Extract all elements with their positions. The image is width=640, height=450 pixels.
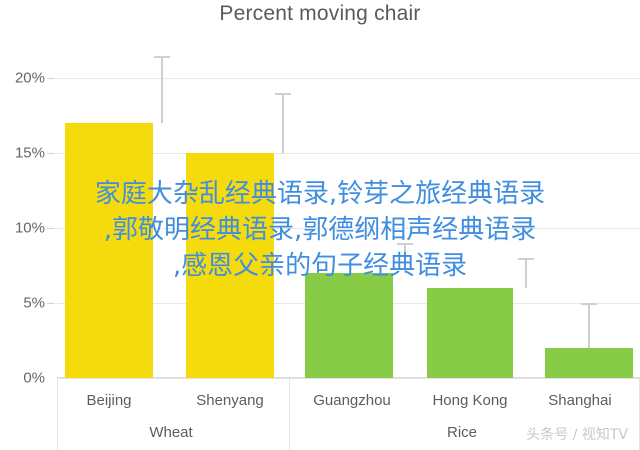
group-label-wheat: Wheat: [149, 424, 192, 441]
y-axis-label-0: 0%: [0, 370, 45, 387]
y-axis-label-10: 10%: [0, 220, 45, 237]
bar-guangzhou[interactable]: [305, 273, 393, 378]
bar-hong-kong[interactable]: [427, 288, 513, 378]
group-label-rice: Rice: [447, 424, 477, 441]
error-bar-cap-shenyang: [275, 93, 291, 95]
x-axis-label-guangzhou: Guangzhou: [313, 392, 391, 409]
x-axis-label-shenyang: Shenyang: [196, 392, 264, 409]
y-tick-mark-20: [47, 78, 55, 79]
y-tick-mark-15: [47, 153, 55, 154]
x-axis-label-shanghai: Shanghai: [548, 392, 611, 409]
y-axis-label-5: 5%: [0, 295, 45, 312]
error-bar-cap-hong-kong: [518, 258, 534, 260]
y-axis-label-15: 15%: [0, 145, 45, 162]
error-bar-stem-shanghai: [588, 303, 590, 348]
bar-beijing[interactable]: [65, 123, 153, 378]
bar-shenyang[interactable]: [186, 153, 274, 378]
plot-area: [57, 40, 640, 378]
error-bar-cap-shanghai: [581, 303, 597, 305]
chart-title: Percent moving chair: [0, 2, 640, 26]
y-tick-mark-10: [47, 228, 55, 229]
error-bar-cap-beijing: [154, 56, 170, 58]
x-axis-label-hong-kong: Hong Kong: [432, 392, 507, 409]
x-axis-label-beijing: Beijing: [86, 392, 131, 409]
y-axis-label-20: 20%: [0, 70, 45, 87]
error-bar-cap-guangzhou: [397, 243, 413, 245]
error-bar-stem-guangzhou: [404, 243, 406, 273]
gridline-20: [57, 78, 640, 79]
watermark: 头条号 / 视知TV: [526, 424, 628, 444]
error-bar-stem-beijing: [161, 56, 163, 123]
group-divider: [289, 378, 290, 450]
error-bar-stem-hong-kong: [525, 258, 527, 288]
error-bar-stem-shenyang: [282, 93, 284, 153]
chart-screenshot: Percent moving chair 20% 15% 10% 5% 0%: [0, 0, 640, 450]
bar-shanghai[interactable]: [545, 348, 633, 378]
y-tick-mark-5: [47, 303, 55, 304]
